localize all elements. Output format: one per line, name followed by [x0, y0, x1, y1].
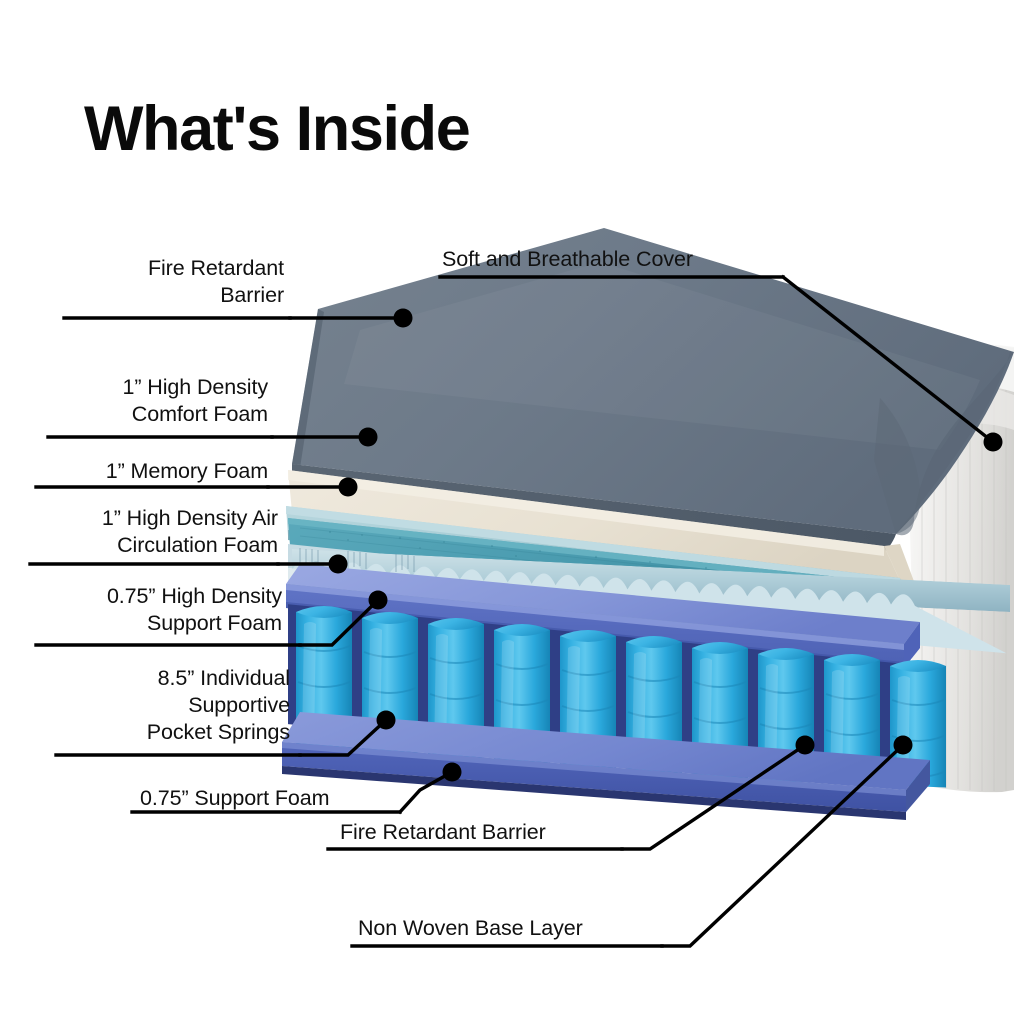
- callout-label-support-foam-base: 0.75” Support Foam: [140, 785, 400, 812]
- callout-label-air-circulation-foam: 1” High Density Air Circulation Foam: [30, 505, 278, 559]
- callout-label-memory-foam: 1” Memory Foam: [36, 458, 268, 485]
- callout-label-layer: Soft and Breathable CoverFire Retardant …: [0, 0, 1024, 1024]
- callout-label-high-density-comfort-foam: 1” High Density Comfort Foam: [48, 374, 268, 428]
- callout-label-non-woven-base-layer: Non Woven Base Layer: [358, 915, 658, 942]
- callout-label-pocket-springs: 8.5” Individual Supportive Pocket Spring…: [56, 665, 290, 746]
- callout-label-fire-retardant-barrier-base: Fire Retardant Barrier: [340, 819, 620, 846]
- callout-label-soft-breathable-cover: Soft and Breathable Cover: [442, 246, 782, 273]
- callout-label-high-density-support-foam: 0.75” High Density Support Foam: [36, 583, 282, 637]
- callout-label-fire-retardant-barrier-top: Fire Retardant Barrier: [64, 255, 284, 309]
- diagram-canvas: What's Inside: [0, 0, 1024, 1024]
